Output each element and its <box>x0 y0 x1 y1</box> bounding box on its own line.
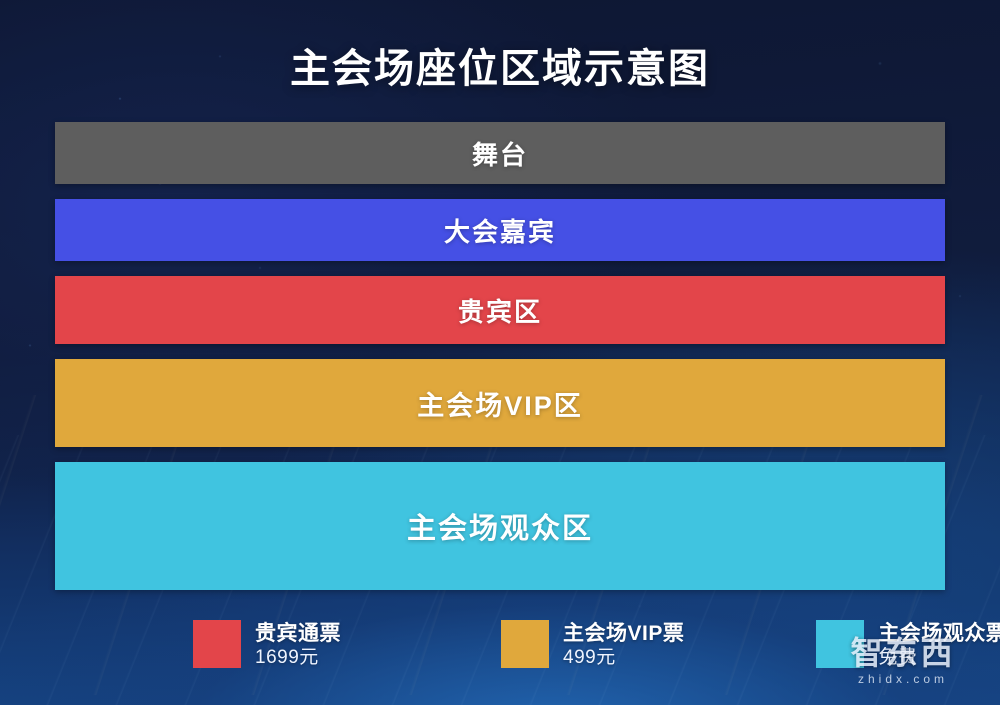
seating-zone[interactable]: 主会场VIP区 <box>55 359 945 447</box>
seating-zone-label: 舞台 <box>472 135 528 172</box>
seating-zone-label: 大会嘉宾 <box>444 212 556 249</box>
legend-item: 贵宾通票1699元 <box>193 620 341 670</box>
logo-wordmark: 智东西 <box>828 635 978 671</box>
seating-zone-label: 主会场VIP区 <box>417 384 583 423</box>
seating-zone[interactable]: 主会场观众区 <box>55 462 945 590</box>
legend-text-group: 主会场VIP票499元 <box>563 620 684 670</box>
legend-color-swatch <box>501 620 549 668</box>
watermark-logo: 智东西 zhidx.com <box>828 635 978 687</box>
seating-chart-page: 主会场座位区域示意图 舞台大会嘉宾贵宾区主会场VIP区主会场观众区 贵宾通票16… <box>0 0 1000 705</box>
seating-zone[interactable]: 大会嘉宾 <box>55 199 945 261</box>
legend-color-swatch <box>193 620 241 668</box>
seating-zone[interactable]: 贵宾区 <box>55 276 945 344</box>
legend-ticket-name: 贵宾通票 <box>255 621 341 646</box>
seating-zone-label: 主会场观众区 <box>407 505 593 547</box>
seating-zone-list: 舞台大会嘉宾贵宾区主会场VIP区主会场观众区 <box>55 122 945 590</box>
legend-ticket-price: 1699元 <box>255 646 341 670</box>
legend-ticket-name: 主会场VIP票 <box>563 621 684 646</box>
legend-ticket-price: 499元 <box>563 646 684 670</box>
logo-url: zhidx.com <box>828 671 978 687</box>
legend-text-group: 贵宾通票1699元 <box>255 620 341 670</box>
legend-item: 主会场VIP票499元 <box>501 620 684 670</box>
page-title: 主会场座位区域示意图 <box>0 36 1000 94</box>
seating-zone[interactable]: 舞台 <box>55 122 945 184</box>
seating-zone-label: 贵宾区 <box>458 292 542 329</box>
